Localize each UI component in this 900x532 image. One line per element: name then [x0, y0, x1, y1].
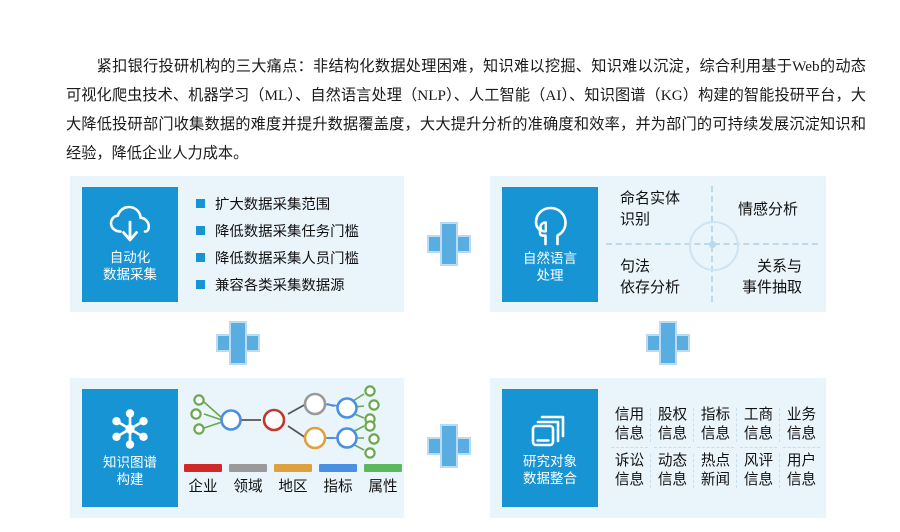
legend-label: 属性 [364, 475, 402, 496]
grid-cell-line2: 信息 [658, 471, 687, 490]
grid-cell-line1: 业务 [787, 406, 816, 425]
bullet-square-icon [196, 199, 205, 208]
grid-cell-line1: 工商 [744, 406, 773, 425]
nlp-br-line1: 关系与 [757, 257, 802, 278]
head-profile-icon [529, 204, 571, 246]
card-nlp-tile: 自然语言 处理 [502, 187, 598, 302]
plus-left-middle [216, 321, 260, 365]
list-item: 降低数据采集人员门槛 [196, 247, 359, 268]
bullet-label: 兼容各类采集数据源 [215, 274, 345, 295]
nlp-bl-line1: 句法 [620, 257, 650, 278]
nlp-quadrant-top-left: 命名实体 识别 [598, 176, 712, 244]
card-nlp[interactable]: 自然语言 处理 命名实体 识别 情感分析 句法 依存分析 [490, 176, 826, 312]
legend-item: 企业 [184, 464, 222, 496]
bullet-square-icon [196, 280, 205, 289]
grid-cell: 股权 信息 [651, 402, 694, 448]
bullet-label: 降低数据采集任务门槛 [215, 220, 359, 241]
nlp-quadrant-bottom-left: 句法 依存分析 [598, 244, 712, 312]
nlp-quadrant-layout: 命名实体 识别 情感分析 句法 依存分析 关系与 事件抽取 [598, 176, 826, 312]
card-knowledge-graph-title-line2: 构建 [103, 471, 157, 489]
legend-label: 领域 [229, 475, 267, 496]
card-automation-tile: 自动化 数据采集 [82, 187, 178, 302]
grid-cell: 动态 信息 [651, 448, 694, 494]
legend-swatch-region [274, 464, 312, 472]
list-item: 降低数据采集任务门槛 [196, 220, 359, 241]
card-nlp-title-line2: 处理 [523, 267, 577, 285]
stacked-layers-icon [528, 409, 572, 449]
grid-cell-line1: 风评 [744, 452, 773, 471]
card-nlp-body: 命名实体 识别 情感分析 句法 依存分析 关系与 事件抽取 [598, 176, 826, 312]
nlp-tr-line1: 情感分析 [738, 200, 798, 221]
grid-cell-line2: 信息 [615, 425, 644, 444]
node-network-icon [108, 408, 152, 450]
plus-bottom-middle [427, 424, 471, 468]
grid-cell: 用户 信息 [780, 448, 823, 494]
automation-bullet-list: 扩大数据采集范围 降低数据采集任务门槛 降低数据采集人员门槛 兼容各类采集数据源 [196, 193, 359, 295]
plus-top-middle [427, 222, 471, 266]
grid-cell: 诉讼 信息 [608, 448, 651, 494]
intro-paragraph: 紧扣银行投研机构的三大痛点：非结构化数据处理困难，知识难以挖掘、知识难以沉淀，综… [66, 52, 866, 168]
grid-cell-line2: 信息 [787, 425, 816, 444]
legend-item: 指标 [319, 464, 357, 496]
grid-cell-line1: 用户 [787, 452, 816, 471]
grid-cell-line2: 信息 [658, 425, 687, 444]
grid-cell-line2: 新闻 [701, 471, 730, 490]
grid-cell-line1: 信用 [615, 406, 644, 425]
grid-cell-line2: 信息 [744, 471, 773, 490]
card-automation-title-line2: 数据采集 [103, 266, 157, 284]
nlp-bl-line2: 依存分析 [620, 278, 680, 299]
plus-vertical-bar [661, 323, 675, 363]
grid-cell: 指标 信息 [694, 402, 737, 448]
card-knowledge-graph[interactable]: 知识图谱 构建 [70, 378, 404, 518]
card-knowledge-graph-body: 企业 领域 地区 指标 属性 [178, 378, 404, 518]
diagram-board: 自动化 数据采集 扩大数据采集范围 降低数据采集任务门槛 降低数据采集人员门槛 [0, 170, 900, 530]
legend-label: 企业 [184, 475, 222, 496]
bullet-label: 扩大数据采集范围 [215, 193, 330, 214]
grid-cell-line2: 信息 [744, 425, 773, 444]
legend-item: 领域 [229, 464, 267, 496]
card-data-integration-title-line1: 研究对象 [523, 453, 577, 471]
grid-cell-line1: 动态 [658, 452, 687, 471]
nlp-tl-line2: 识别 [620, 210, 650, 231]
legend-label: 地区 [274, 475, 312, 496]
legend-swatch-domain [229, 464, 267, 472]
cloud-download-icon [107, 205, 153, 245]
knowledge-graph-legend: 企业 领域 地区 指标 属性 [184, 464, 402, 496]
card-data-integration-body: 信用 信息 股权 信息 指标 信息 工商 信息 业务 信息 [598, 378, 826, 518]
grid-cell-line1: 指标 [701, 406, 730, 425]
legend-swatch-indicator [319, 464, 357, 472]
grid-cell: 工商 信息 [737, 402, 780, 448]
grid-cell: 业务 信息 [780, 402, 823, 448]
list-item: 扩大数据采集范围 [196, 193, 359, 214]
intro-text: 紧扣银行投研机构的三大痛点：非结构化数据处理困难，知识难以挖掘、知识难以沉淀，综… [66, 58, 866, 162]
grid-cell-line1: 诉讼 [615, 452, 644, 471]
nlp-tl-line1: 命名实体 [620, 189, 680, 210]
bullet-square-icon [196, 253, 205, 262]
card-automation-title-line1: 自动化 [103, 249, 157, 267]
legend-swatch-attribute [364, 464, 402, 472]
card-knowledge-graph-title-line1: 知识图谱 [103, 454, 157, 472]
grid-cell: 热点 新闻 [694, 448, 737, 494]
card-nlp-title-line1: 自然语言 [523, 250, 577, 268]
nlp-br-line2: 事件抽取 [742, 278, 802, 299]
card-data-integration-title-line2: 数据整合 [523, 470, 577, 488]
grid-cell: 风评 信息 [737, 448, 780, 494]
grid-cell: 信用 信息 [608, 402, 651, 448]
bullet-square-icon [196, 226, 205, 235]
card-knowledge-graph-tile: 知识图谱 构建 [82, 389, 178, 507]
plus-vertical-bar [442, 224, 456, 264]
card-data-integration-tile: 研究对象 数据整合 [502, 389, 598, 507]
legend-item: 属性 [364, 464, 402, 496]
plus-right-middle [646, 321, 690, 365]
list-item: 兼容各类采集数据源 [196, 274, 359, 295]
plus-vertical-bar [231, 323, 245, 363]
legend-swatch-enterprise [184, 464, 222, 472]
data-integration-grid: 信用 信息 股权 信息 指标 信息 工商 信息 业务 信息 [608, 402, 823, 494]
card-automation[interactable]: 自动化 数据采集 扩大数据采集范围 降低数据采集任务门槛 降低数据采集人员门槛 [70, 176, 404, 312]
grid-cell-line2: 信息 [787, 471, 816, 490]
nlp-quadrant-top-right: 情感分析 [712, 176, 826, 244]
legend-item: 地区 [274, 464, 312, 496]
bullet-label: 降低数据采集人员门槛 [215, 247, 359, 268]
grid-cell-line2: 信息 [615, 471, 644, 490]
legend-label: 指标 [319, 475, 357, 496]
grid-cell-line1: 股权 [658, 406, 687, 425]
card-data-integration[interactable]: 研究对象 数据整合 信用 信息 股权 信息 指标 信息 工商 [490, 378, 826, 518]
nlp-quadrant-bottom-right: 关系与 事件抽取 [712, 244, 826, 312]
knowledge-graph-diagram [182, 384, 396, 462]
grid-cell-line2: 信息 [701, 425, 730, 444]
card-automation-body: 扩大数据采集范围 降低数据采集任务门槛 降低数据采集人员门槛 兼容各类采集数据源 [178, 176, 404, 312]
plus-vertical-bar [442, 426, 456, 466]
grid-cell-line1: 热点 [701, 452, 730, 471]
